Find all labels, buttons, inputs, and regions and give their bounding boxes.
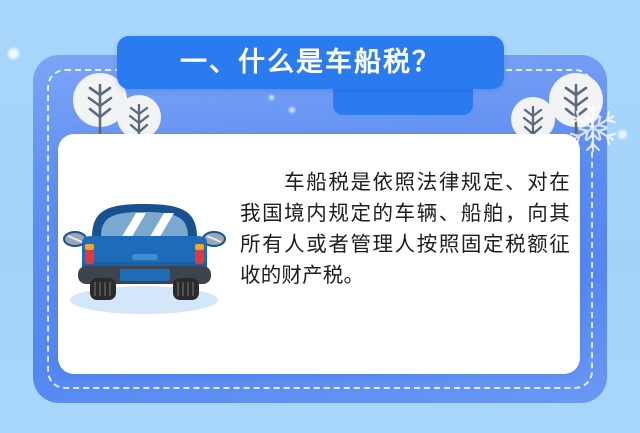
body-paragraph: 车船税是依照法律规定、对在我国境内规定的车辆、船舶，向其所有人或者管理人按照固定… — [240, 167, 570, 291]
car-window — [101, 212, 188, 240]
section-title-banner: 一、什么是车船税？ — [117, 36, 504, 89]
taillight-left — [85, 250, 94, 264]
page-title: 一、什么是车船税？ — [180, 49, 441, 76]
tire-left — [90, 278, 116, 300]
license-plate — [120, 269, 170, 281]
car-illustration — [62, 192, 227, 317]
tire-right — [173, 278, 199, 300]
indicator-right — [195, 244, 204, 250]
infographic-slide: 一、什么是车船税？ — [0, 0, 640, 433]
indicator-left — [85, 244, 94, 250]
taillight-right — [195, 250, 204, 264]
background-dot — [8, 48, 19, 59]
trunk-handle — [132, 254, 158, 260]
